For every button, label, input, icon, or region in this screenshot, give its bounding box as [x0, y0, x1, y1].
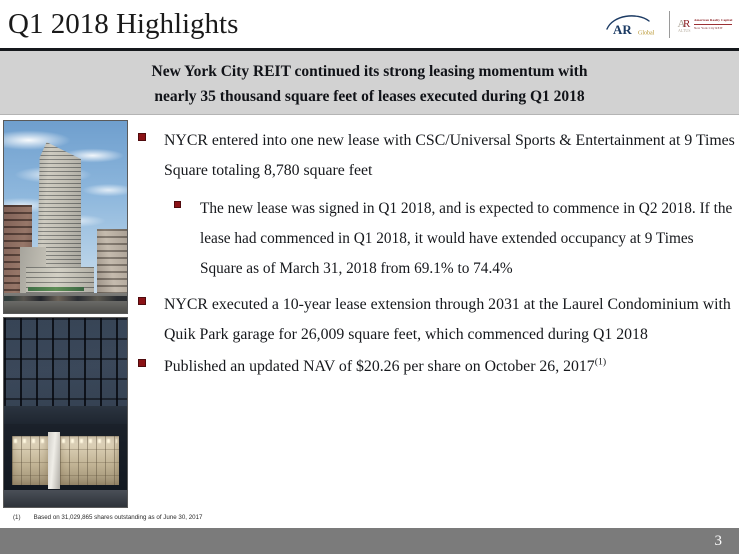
svg-text:ALTUS: ALTUS: [678, 28, 691, 33]
logo-divider: [669, 11, 670, 38]
footnote: (1) Based on 31,029,865 shares outstandi…: [13, 513, 202, 522]
bullet-item-2-sub: The new lease was signed in Q1 2018, and…: [174, 194, 736, 284]
nycr-logo-rule: [694, 24, 732, 25]
svg-text:AR: AR: [613, 22, 632, 37]
headline-line-1: New York City REIT continued its strong …: [152, 59, 588, 84]
bullet-item-4-text: Published an updated NAV of $20.26 per s…: [164, 352, 606, 382]
slide-header: Q1 2018 Highlights AR Global A R ALTUS A…: [0, 0, 739, 48]
headline-banner: New York City REIT continued its strong …: [0, 48, 739, 115]
bullet-list: NYCR entered into one new lease with CSC…: [138, 126, 736, 384]
bullet-item-1-text: NYCR entered into one new lease with CSC…: [164, 126, 736, 186]
bullet-item-3-text: NYCR executed a 10-year lease extension …: [164, 290, 736, 350]
bullet-item-1: NYCR entered into one new lease with CSC…: [138, 126, 736, 186]
photo-the-laurel-condominium-tower: [3, 120, 128, 314]
photo-nine-times-square-entrance: [3, 317, 128, 508]
page-title: Q1 2018 Highlights: [8, 4, 238, 44]
bullet-item-3: NYCR executed a 10-year lease extension …: [138, 290, 736, 350]
lobby-bay-right: [60, 436, 119, 485]
bullet-square-icon: [138, 359, 146, 367]
nycr-logo-text: American Realty Capital New York City RE…: [694, 18, 732, 30]
nycr-logo: A R ALTUS American Realty Capital New Yo…: [677, 11, 735, 37]
ground-floor: [4, 424, 127, 491]
ar-global-logo: AR Global: [604, 9, 662, 39]
page-number: 3: [715, 532, 723, 550]
entrance-pillar: [48, 432, 60, 489]
sidewalk-foreground: [4, 490, 127, 507]
facade-lintel: [4, 406, 127, 426]
bullet-square-icon: [138, 133, 146, 141]
adjacent-building-right: [97, 229, 128, 301]
nycr-logo-icon: A R ALTUS: [677, 14, 692, 34]
footnote-reference: (1): [595, 357, 606, 368]
office-facade-glass: [4, 318, 127, 410]
lobby-bay-left: [12, 436, 48, 485]
storefront-awning: [28, 287, 84, 291]
footnote-text: Based on 31,029,865 shares outstanding a…: [34, 513, 203, 522]
bullet-item-4: Published an updated NAV of $20.26 per s…: [138, 352, 736, 382]
bullet-item-2-text: The new lease was signed in Q1 2018, and…: [200, 194, 736, 284]
ceiling-lights-right: [62, 439, 117, 443]
street-foreground: [4, 293, 127, 313]
nycr-logo-line2: New York City REIT: [694, 26, 732, 30]
footnote-marker: (1): [13, 513, 21, 522]
headline-line-2: nearly 35 thousand square feet of leases…: [154, 84, 584, 109]
bullet-square-icon: [174, 201, 181, 208]
footer-bar: 3: [0, 528, 739, 554]
slide-q1-2018-highlights: Q1 2018 Highlights AR Global A R ALTUS A…: [0, 0, 739, 554]
ar-global-logo-icon: AR Global: [604, 9, 662, 39]
nycr-logo-line1: American Realty Capital: [694, 18, 732, 22]
logo-group: AR Global A R ALTUS American Realty Capi…: [604, 6, 735, 42]
svg-text:Global: Global: [638, 31, 655, 37]
ceiling-lights-left: [14, 439, 46, 443]
bullet-square-icon: [138, 297, 146, 305]
bullet-item-4-main: Published an updated NAV of $20.26 per s…: [164, 358, 595, 375]
